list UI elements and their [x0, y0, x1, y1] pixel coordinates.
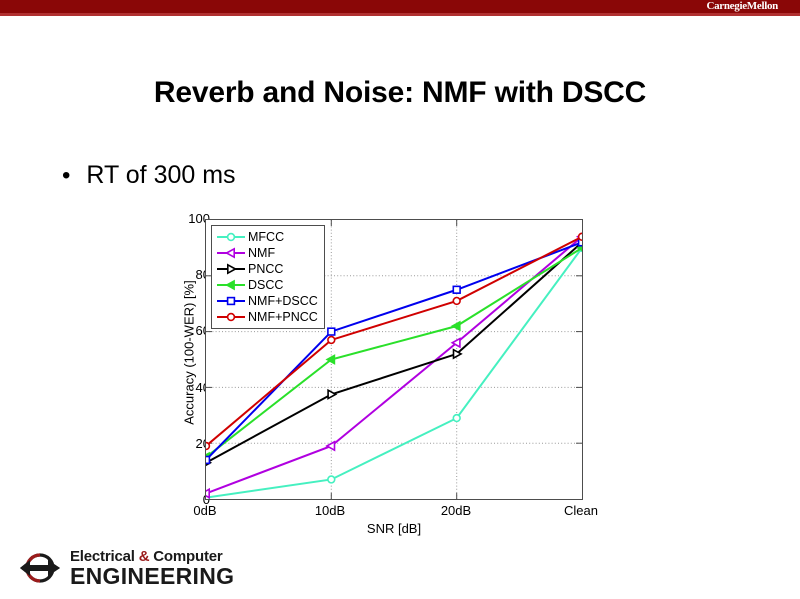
- legend-label: NMF+PNCC: [248, 310, 318, 324]
- legend-item-mfcc: MFCC: [216, 229, 318, 245]
- ece-wordmark: Electrical & Computer ENGINEERING: [70, 549, 234, 588]
- legend-label: DSCC: [248, 278, 283, 292]
- y-tick-40: 40: [150, 388, 210, 403]
- legend-swatch-filled-left-triangle-icon: [216, 278, 246, 292]
- series-marker-dscc-20db: [452, 322, 460, 330]
- x-tick-20db: 20dB: [421, 503, 491, 518]
- y-tick-20: 20: [150, 444, 210, 459]
- series-marker-nmf-pncc-0db: [206, 443, 209, 450]
- banner-rule: [0, 13, 800, 16]
- x-tick-10db: 10dB: [295, 503, 365, 518]
- ece-ampersand: &: [139, 548, 150, 565]
- legend-item-nmf-pncc: NMF+PNCC: [216, 309, 318, 325]
- series-marker-nmf-dscc-0db: [206, 457, 209, 464]
- series-marker-nmf-pncc-20db: [453, 298, 460, 305]
- series-marker-mfcc-20db: [453, 415, 460, 422]
- series-marker-nmf-dscc-10db: [328, 328, 335, 335]
- top-banner: CarnegieMellon: [0, 0, 800, 13]
- x-tick-clean: Clean: [546, 503, 616, 518]
- series-marker-nmf-pncc-clean: [579, 233, 582, 240]
- series-marker-pncc-10db: [328, 390, 336, 398]
- legend-item-dscc: DSCC: [216, 277, 318, 293]
- legend-label: PNCC: [248, 262, 283, 276]
- page-title: Reverb and Noise: NMF with DSCC: [0, 76, 800, 110]
- series-marker-nmf-0db: [206, 489, 209, 497]
- accuracy-vs-snr-chart: Accuracy (100-WER) [%] 100 80 60 40 20 0: [150, 205, 650, 535]
- x-axis-label: SNR [dB]: [205, 521, 583, 536]
- ece-logo: Electrical & Computer ENGINEERING: [18, 548, 234, 588]
- bullet-item: • RT of 300 ms: [62, 160, 236, 191]
- bullet-text: RT of 300 ms: [86, 160, 235, 190]
- ece-swoosh-icon: [18, 548, 64, 588]
- legend-swatch-circle-icon: [216, 310, 246, 324]
- legend-item-pncc: PNCC: [216, 261, 318, 277]
- x-tick-0db: 0dB: [170, 503, 240, 518]
- y-tick-60: 60: [150, 331, 210, 346]
- bullet-marker: •: [62, 161, 70, 191]
- y-tick-100: 100: [150, 219, 210, 234]
- legend-label: MFCC: [248, 230, 284, 244]
- series-marker-nmf-dscc-20db: [453, 286, 460, 293]
- legend-label: NMF: [248, 246, 275, 260]
- y-tick-80: 80: [150, 275, 210, 290]
- ece-line-2: ENGINEERING: [70, 565, 234, 588]
- series-marker-nmf-pncc-10db: [328, 337, 335, 344]
- ece-electrical-text: Electrical: [70, 548, 139, 565]
- chart-legend: MFCCNMFPNCCDSCCNMF+DSCCNMF+PNCC: [211, 225, 325, 329]
- ece-computer-text: Computer: [149, 548, 222, 565]
- legend-label: NMF+DSCC: [248, 294, 318, 308]
- legend-item-nmf-dscc: NMF+DSCC: [216, 293, 318, 309]
- carnegie-mellon-wordmark: CarnegieMellon: [706, 0, 778, 13]
- legend-swatch-circle-icon: [216, 230, 246, 244]
- legend-swatch-right-triangle-icon: [216, 262, 246, 276]
- legend-swatch-square-icon: [216, 294, 246, 308]
- legend-swatch-left-triangle-icon: [216, 246, 246, 260]
- legend-item-nmf: NMF: [216, 245, 318, 261]
- ece-line-1: Electrical & Computer: [70, 549, 234, 564]
- series-marker-mfcc-10db: [328, 476, 335, 483]
